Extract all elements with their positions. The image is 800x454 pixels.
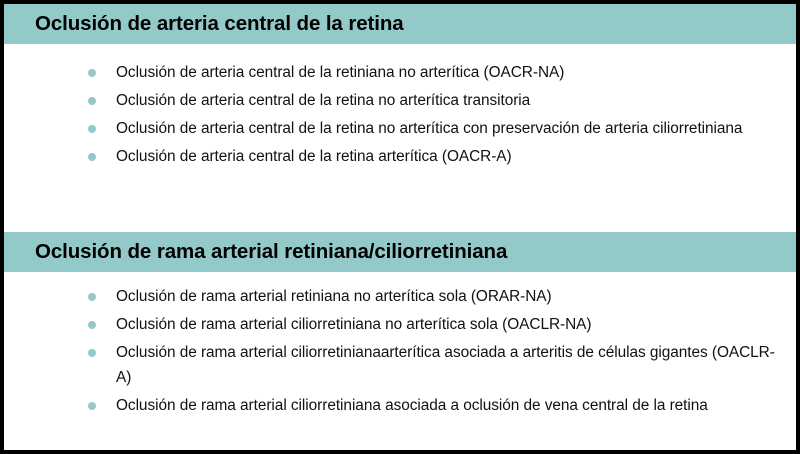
- section-title-2: Oclusión de rama arterial retiniana/cili…: [35, 242, 507, 263]
- bullet-dot-icon: [88, 349, 96, 357]
- list-item-label: Oclusión de arteria central de la retini…: [116, 60, 778, 85]
- list-item: Oclusión de rama arterial ciliorretinian…: [4, 312, 796, 337]
- bullet-dot-icon: [88, 69, 96, 77]
- list-item: Oclusión de arteria central de la retina…: [4, 144, 796, 169]
- list-item: Oclusión de arteria central de la retina…: [4, 116, 796, 141]
- list-item-label: Oclusión de rama arterial retiniana no a…: [116, 284, 778, 309]
- bullet-dot-icon: [88, 97, 96, 105]
- list-item-label: Oclusión de rama arterial ciliorretinian…: [116, 312, 778, 337]
- list-item: Oclusión de rama arterial retiniana no a…: [4, 284, 796, 309]
- section-header-2: Oclusión de rama arterial retiniana/cili…: [4, 232, 796, 272]
- bullet-dot-icon: [88, 293, 96, 301]
- list-item: Oclusión de rama arterial ciliorretinian…: [4, 393, 796, 418]
- list-item-label: Oclusión de rama arterial ciliorretinian…: [116, 340, 778, 390]
- list-item-label: Oclusión de rama arterial ciliorretinian…: [116, 393, 778, 418]
- list-item-label: Oclusión de arteria central de la retina…: [116, 144, 778, 169]
- bullet-dot-icon: [88, 153, 96, 161]
- bullet-list-2: Oclusión de rama arterial retiniana no a…: [4, 272, 796, 418]
- bullet-dot-icon: [88, 402, 96, 410]
- bullet-list-1: Oclusión de arteria central de la retini…: [4, 44, 796, 169]
- list-item: Oclusión de arteria central de la retina…: [4, 88, 796, 113]
- section-header-1: Oclusión de arteria central de la retina: [4, 4, 796, 44]
- list-item: Oclusión de rama arterial ciliorretinian…: [4, 340, 796, 390]
- list-item-label: Oclusión de arteria central de la retina…: [116, 116, 778, 141]
- section-branch-retinal-artery-occlusion: Oclusión de rama arterial retiniana/cili…: [4, 232, 796, 421]
- section-title-1: Oclusión de arteria central de la retina: [35, 14, 404, 35]
- section-central-retinal-artery-occlusion: Oclusión de arteria central de la retina…: [4, 4, 796, 172]
- list-item: Oclusión de arteria central de la retini…: [4, 60, 796, 85]
- list-item-label: Oclusión de arteria central de la retina…: [116, 88, 778, 113]
- bullet-dot-icon: [88, 321, 96, 329]
- bullet-dot-icon: [88, 125, 96, 133]
- classification-table: Oclusión de arteria central de la retina…: [0, 0, 800, 454]
